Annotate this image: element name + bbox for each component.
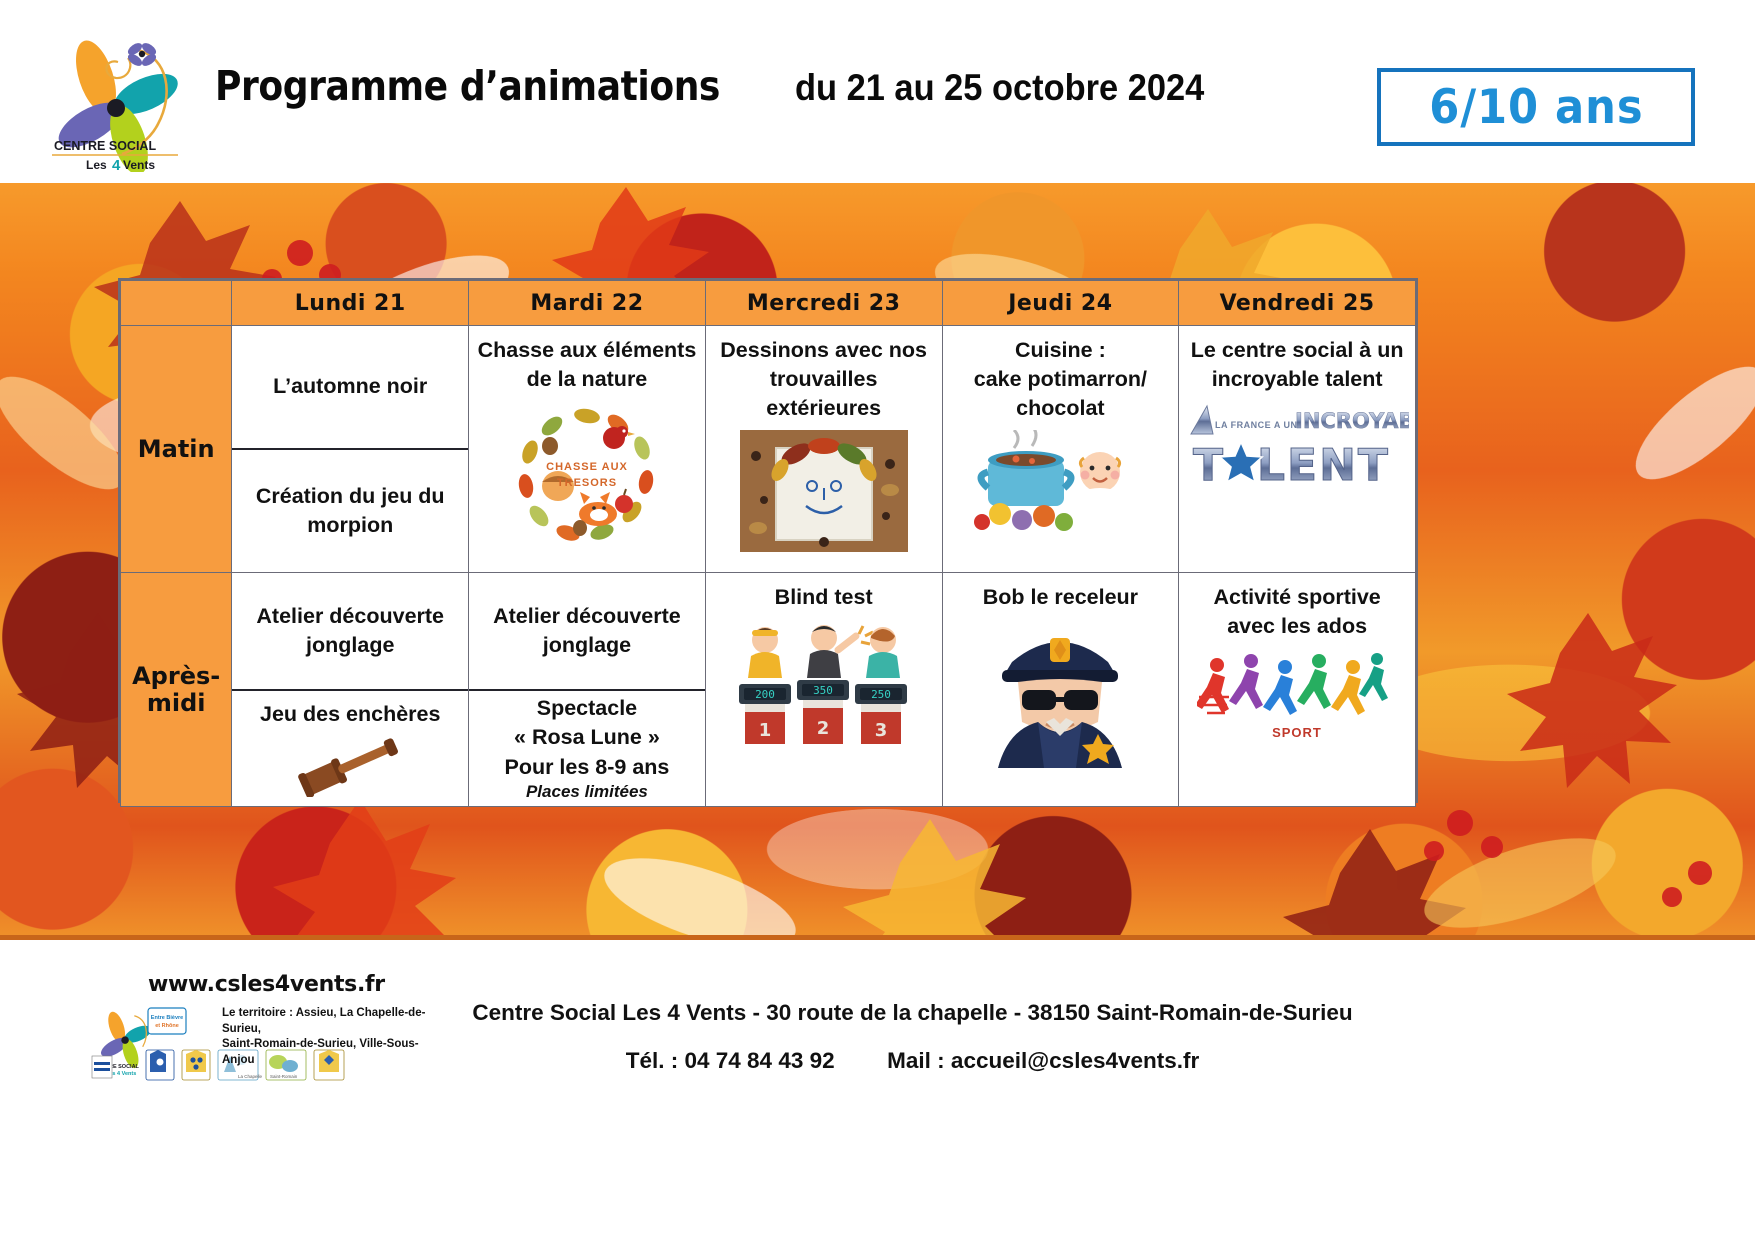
footer-address: Centre Social Les 4 Vents - 30 route de … bbox=[70, 1000, 1755, 1026]
row-label-matin: Matin bbox=[121, 326, 232, 573]
quiz-podium-buzzers-icon: 200 1 350 2 bbox=[731, 618, 917, 748]
buzzer-score-2: 350 bbox=[813, 684, 833, 697]
talent-logo-star-icon bbox=[1220, 442, 1262, 482]
cell-mardi-apresmidi-bottom: Spectacle « Rosa Lune » Pour les 8-9 ans… bbox=[469, 691, 705, 807]
activity-title-line2: jonglage bbox=[539, 631, 635, 660]
policeman-sunglasses-icon bbox=[972, 618, 1148, 768]
column-header-jeudi: Jeudi 24 bbox=[942, 281, 1179, 326]
gavel-auction-hammer-icon bbox=[286, 735, 414, 797]
page-footer: www.csles4vents.fr CENTRE SOCIAL Les 4 V… bbox=[0, 940, 1755, 1241]
cell-lundi-matin-bottom: Création du jeu du morpion bbox=[232, 450, 468, 572]
podium-rank-2: 2 bbox=[816, 718, 829, 739]
talent-logo-caption-incroyable: INCROYABLE bbox=[1295, 409, 1409, 433]
cooking-pot-chef-icon bbox=[970, 430, 1150, 538]
column-header-vendredi: Vendredi 25 bbox=[1179, 281, 1416, 326]
program-table-container: Lundi 21 Mardi 22 Mercredi 23 Jeudi 24 V… bbox=[118, 278, 1418, 803]
column-header-blank bbox=[121, 281, 232, 326]
podium-rank-1: 1 bbox=[758, 720, 771, 741]
footer-mail: Mail : accueil@csles4vents.fr bbox=[887, 1048, 1199, 1073]
svg-text:La Chapelle: La Chapelle bbox=[238, 1074, 263, 1079]
column-header-mercredi: Mercredi 23 bbox=[705, 281, 942, 326]
footer-phone: Tél. : 04 74 84 43 92 bbox=[626, 1048, 835, 1073]
footer-website: www.csles4vents.fr bbox=[148, 972, 385, 997]
activity-title-line2: « Rosa Lune » bbox=[510, 723, 664, 752]
activity-note: Places limitées bbox=[522, 782, 652, 802]
talent-logo-wordmark: T bbox=[1193, 440, 1225, 488]
buzzer-score-3: 250 bbox=[871, 688, 891, 701]
svg-text:Saint-Romain: Saint-Romain bbox=[270, 1074, 298, 1079]
activity-title: Bob le receleur bbox=[979, 583, 1142, 612]
activity-title-line2: incroyable talent bbox=[1208, 365, 1387, 394]
incroyable-talent-logo-icon: LA FRANCE A UN INCROYABLE T LENT bbox=[1185, 400, 1409, 488]
row-label-line1: Après- bbox=[121, 663, 231, 690]
cell-mardi-matin: Chasse aux éléments de la nature bbox=[469, 326, 706, 573]
cell-mardi-apresmidi: Atelier découverte jonglage Spectacle « … bbox=[469, 573, 706, 807]
cell-lundi-apresmidi-bottom: Jeu des enchères bbox=[232, 691, 468, 807]
cell-lundi-apresmidi-top: Atelier découverte jonglage bbox=[232, 573, 468, 691]
talent-logo-caption-small: LA FRANCE A UN bbox=[1215, 420, 1298, 430]
talent-logo-wordmark-2: LENT bbox=[1257, 440, 1390, 488]
activity-title: Blind test bbox=[771, 583, 877, 612]
activity-title-line3: extérieures bbox=[762, 394, 885, 423]
cell-mardi-apresmidi-top: Atelier découverte jonglage bbox=[469, 573, 705, 691]
row-label-apres-midi: Après- midi bbox=[121, 573, 232, 807]
cell-lundi-apresmidi: Atelier découverte jonglage Jeu des ench… bbox=[232, 573, 469, 807]
sport-runners-icon: SPORT bbox=[1197, 647, 1397, 743]
logo-text-centre-social: CENTRE SOCIAL bbox=[54, 139, 156, 153]
cell-lundi-matin-top: L’automne noir bbox=[232, 326, 468, 450]
activity-title: Jeu des enchères bbox=[256, 700, 444, 729]
activity-title-line1: Chasse aux éléments bbox=[474, 336, 701, 365]
page-header: CENTRE SOCIAL Les 4 Vents Programme d’an… bbox=[0, 0, 1755, 183]
activity-title-line1: Le centre social à un bbox=[1187, 336, 1408, 365]
podium-rank-3: 3 bbox=[874, 720, 887, 741]
logo-text-four: 4 bbox=[112, 157, 121, 172]
age-badge: 6/10 ans bbox=[1377, 68, 1695, 146]
activity-title-line3: chocolat bbox=[1012, 394, 1108, 423]
activity-title-line2: cake potimarron/ bbox=[970, 365, 1151, 394]
activity-title-line2: trouvailles bbox=[766, 365, 882, 394]
activity-title-line1: Spectacle bbox=[533, 694, 641, 723]
cell-jeudi-matin: Cuisine : cake potimarron/ chocolat bbox=[942, 326, 1179, 573]
activity-title-line1: Cuisine : bbox=[1011, 336, 1110, 365]
activity-title-line2: de la nature bbox=[523, 365, 652, 394]
logo-text-vents: Vents bbox=[123, 158, 155, 172]
centre-social-logo: CENTRE SOCIAL Les 4 Vents bbox=[42, 22, 202, 172]
row-label-line2: midi bbox=[121, 690, 231, 717]
footer-contact: Centre Social Les 4 Vents - 30 route de … bbox=[0, 1000, 1755, 1074]
page-title: Programme d’animationsdu 21 au 25 octobr… bbox=[215, 62, 1235, 110]
buzzer-score-1: 200 bbox=[755, 688, 775, 701]
table-row: Après- midi Atelier découverte jonglage … bbox=[121, 573, 1416, 807]
activity-title-line2: avec les ados bbox=[1223, 612, 1371, 641]
title-main-text: Programme d’animations bbox=[215, 62, 720, 110]
program-table: Lundi 21 Mardi 22 Mercredi 23 Jeudi 24 V… bbox=[120, 280, 1416, 807]
activity-title-line1: Création du jeu du bbox=[252, 482, 449, 511]
activity-title: L’automne noir bbox=[269, 372, 431, 401]
sport-caption: SPORT bbox=[1272, 725, 1322, 740]
title-date-range: du 21 au 25 octobre 2024 bbox=[795, 67, 1204, 109]
activity-title-line1: Activité sportive bbox=[1209, 583, 1384, 612]
activity-title-line2: morpion bbox=[303, 511, 397, 540]
wreath-caption-line2: TRESORS bbox=[557, 477, 617, 489]
activity-title-line3: Pour les 8-9 ans bbox=[500, 753, 673, 782]
cell-lundi-matin: L’automne noir Création du jeu du morpio… bbox=[232, 326, 469, 573]
activity-title-line1: Atelier découverte bbox=[489, 602, 685, 631]
wreath-caption-line1: CHASSE AUX bbox=[546, 461, 628, 473]
activity-title-line2: jonglage bbox=[302, 631, 398, 660]
activity-title-line1: Atelier découverte bbox=[252, 602, 448, 631]
cell-mercredi-apresmidi: Blind test bbox=[705, 573, 942, 807]
chasse-aux-tresors-wreath-icon: CHASSE AUX TRESORS bbox=[494, 400, 680, 550]
footer-phone-mail: Tél. : 04 74 84 43 92 Mail : accueil@csl… bbox=[70, 1048, 1755, 1074]
age-badge-label: 6/10 ans bbox=[1429, 80, 1643, 135]
nature-drawing-photo-icon bbox=[740, 430, 908, 552]
cell-mercredi-matin: Dessinons avec nos trouvailles extérieur… bbox=[705, 326, 942, 573]
cell-jeudi-apresmidi: Bob le receleur bbox=[942, 573, 1179, 807]
logo-text-les-vents: Les bbox=[86, 158, 107, 172]
column-header-lundi: Lundi 21 bbox=[232, 281, 469, 326]
table-row: Matin L’automne noir Création du jeu du … bbox=[121, 326, 1416, 573]
activity-title-line1: Dessinons avec nos bbox=[716, 336, 931, 365]
column-header-mardi: Mardi 22 bbox=[469, 281, 706, 326]
cell-vendredi-matin: Le centre social à un incroyable talent bbox=[1179, 326, 1416, 573]
table-header-row: Lundi 21 Mardi 22 Mercredi 23 Jeudi 24 V… bbox=[121, 281, 1416, 326]
cell-vendredi-apresmidi: Activité sportive avec les ados bbox=[1179, 573, 1416, 807]
